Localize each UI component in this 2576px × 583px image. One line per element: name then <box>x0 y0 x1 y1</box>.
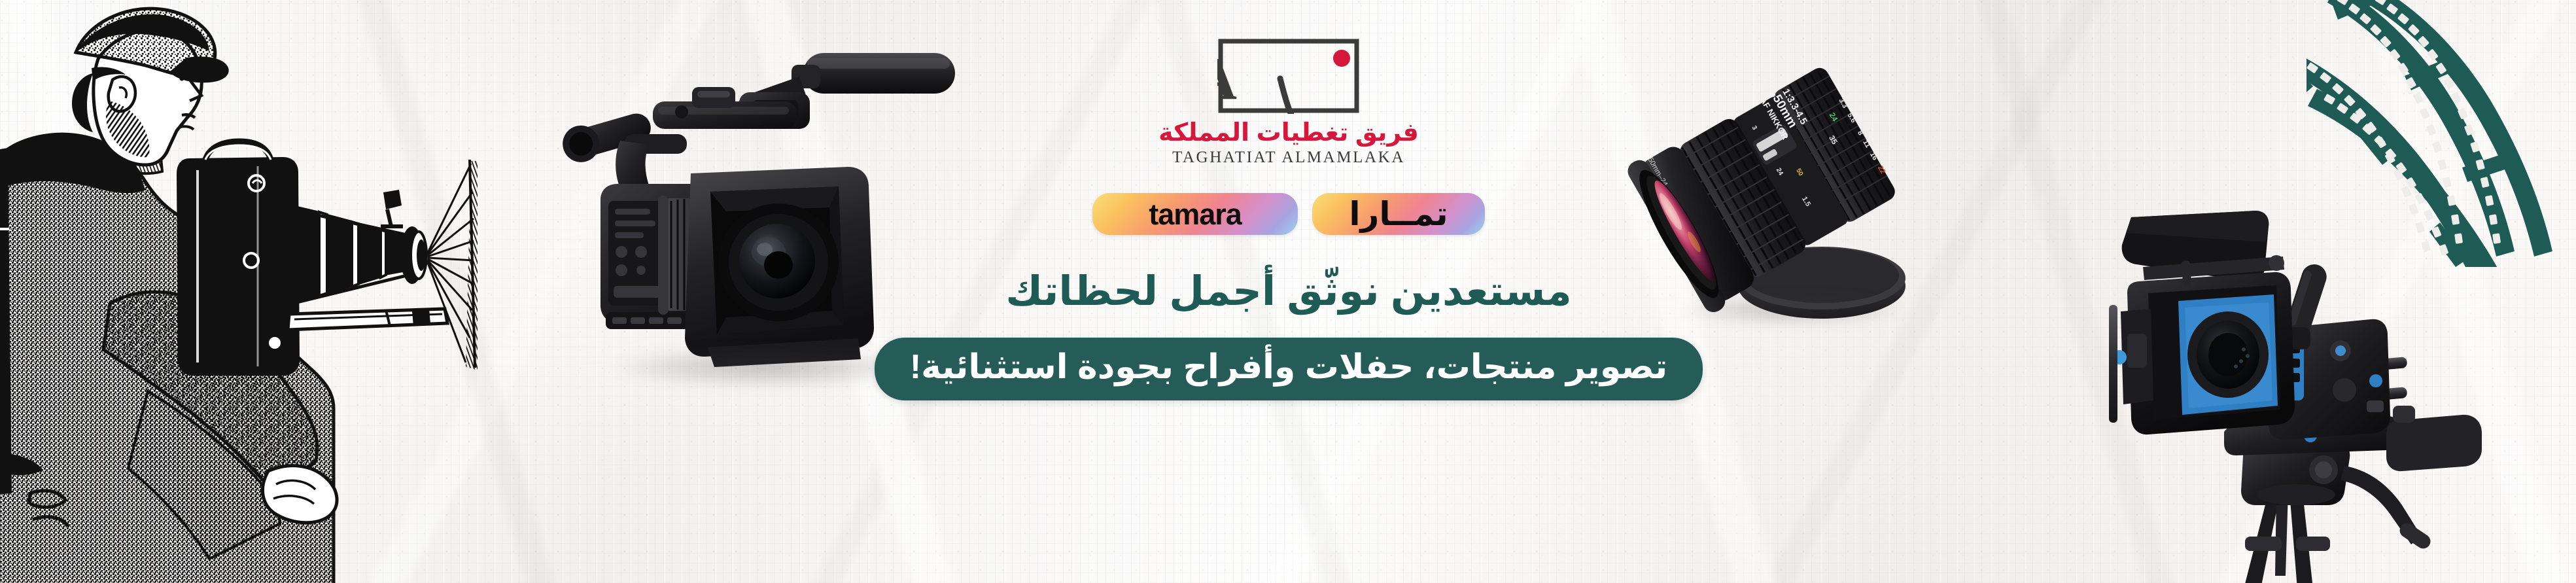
tamara-badge-arabic[interactable]: تمــارا <box>1312 193 1485 235</box>
brand-name-arabic: فريق تغطيات المملكة <box>1158 120 1419 145</box>
svg-text:KSA: KSA <box>1217 45 1237 112</box>
headline-text: مستعدين نوثّق أجمل لحظاتك <box>1005 269 1571 314</box>
brand-logo-block: KSA فريق تغطيات المملكة TAGHATIAT ALMAML… <box>1158 38 1419 166</box>
payment-badges: tamara تمــارا <box>1092 193 1485 235</box>
ksa-logo-mark: KSA <box>1217 38 1360 114</box>
tamara-badge-latin[interactable]: tamara <box>1092 193 1298 235</box>
tamara-badge-latin-label: tamara <box>1149 200 1242 229</box>
subheadline-pill: تصوير منتجات، حفلات وأفراح بجودة استثنائ… <box>875 338 1703 400</box>
brand-name-latin: TAGHATIAT ALMAMLAKA <box>1172 149 1405 166</box>
vintage-photographer-illustration <box>0 0 478 583</box>
promo-banner: 22 16 11 8 5.6 3.3 24 3 50 1.5 <box>0 0 2576 583</box>
tamara-badge-arabic-label: تمــارا <box>1349 198 1448 230</box>
center-content: KSA فريق تغطيات المملكة TAGHATIAT ALMAML… <box>844 0 1733 583</box>
filmstrip-decoration <box>2306 0 2576 267</box>
